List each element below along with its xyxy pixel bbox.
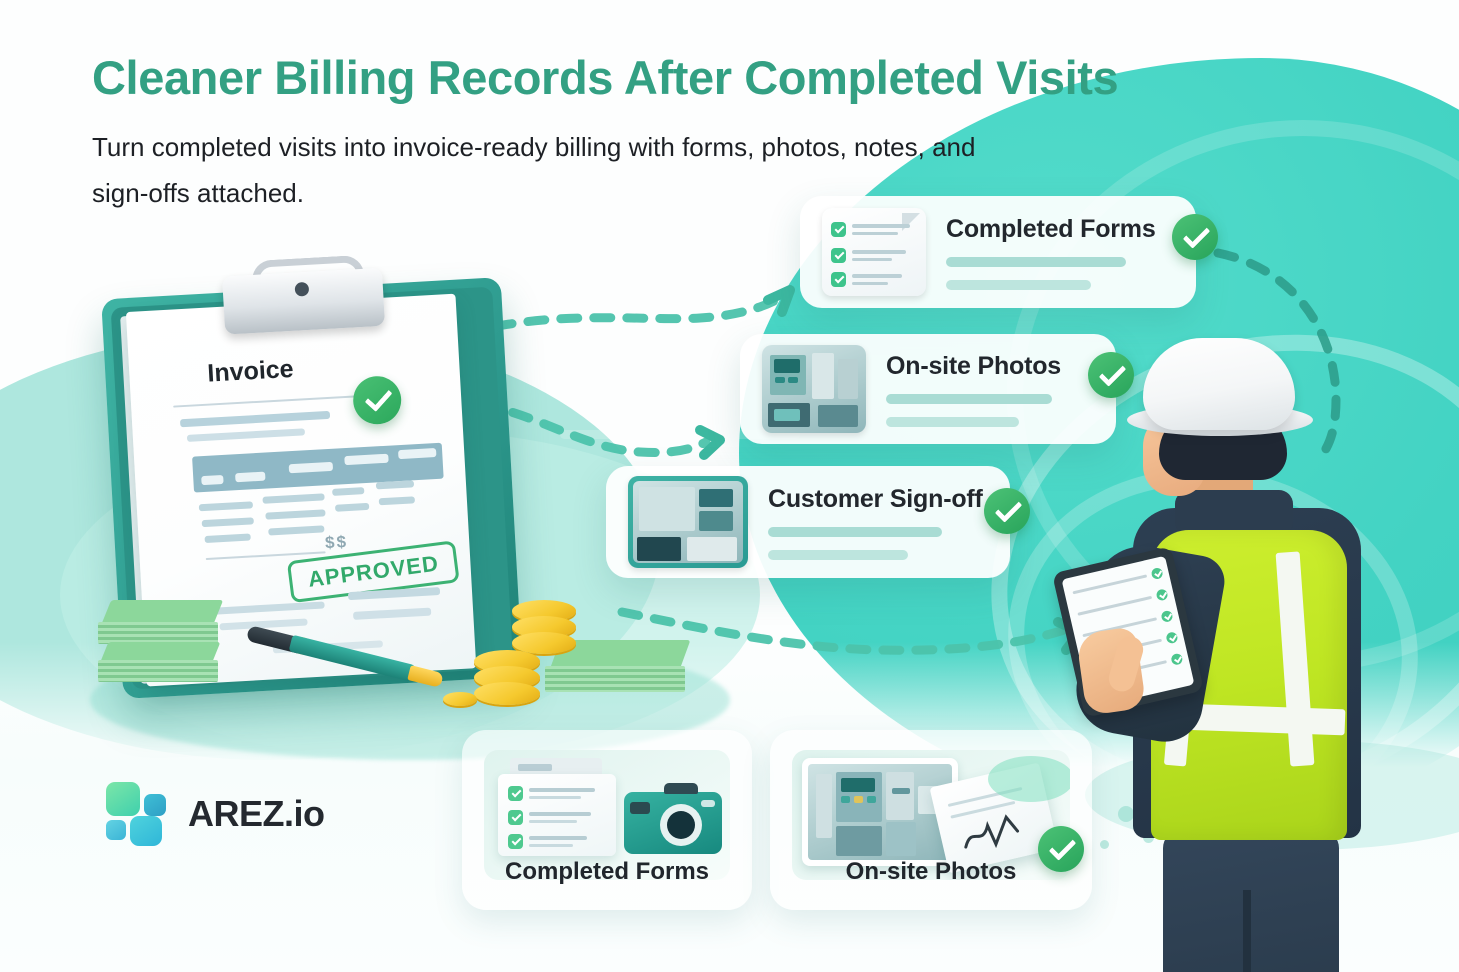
invoice-line [187, 428, 305, 442]
invoice-cell [376, 480, 414, 489]
invoice-rule [173, 394, 373, 407]
equipment-photo-icon [628, 476, 748, 568]
check-icon [1150, 567, 1163, 580]
check-icon [1165, 631, 1178, 644]
arrowhead-icon [768, 290, 790, 312]
worker-legs [1163, 830, 1339, 972]
invoice-amount: $$ [325, 532, 349, 553]
check-icon [1170, 653, 1183, 666]
invoice-cell [332, 487, 364, 496]
placeholder-bar [946, 280, 1091, 290]
brand-logo[interactable]: AREZ.io [106, 782, 325, 846]
card-label: Customer Sign-off [768, 485, 1010, 514]
invoice-line [353, 608, 431, 620]
invoice-title: Invoice [207, 355, 295, 389]
bottom-card-completed-forms[interactable]: Completed Forms [462, 730, 752, 910]
check-circle-icon [984, 488, 1030, 534]
placeholder-bar [886, 417, 1019, 427]
check-icon [1155, 588, 1168, 601]
camera-icon [624, 792, 722, 854]
infographic-canvas: Cleaner Billing Records After Completed … [0, 0, 1459, 972]
vest-stripe [1276, 551, 1315, 766]
invoice-cell [205, 534, 251, 544]
checklist-document-icon [822, 208, 926, 296]
cash-stack-left [98, 600, 228, 686]
card-label: On-site Photos [770, 858, 1092, 886]
invoice-cell [262, 493, 324, 503]
checkbox-icon [831, 222, 846, 237]
invoice-line [215, 601, 325, 614]
placeholder-bar [768, 527, 942, 537]
card-body: Customer Sign-off [768, 485, 1010, 560]
ghost-line [430, 262, 630, 271]
checkbox-icon [508, 834, 523, 849]
checkbox-icon [831, 248, 846, 263]
arez-squares-logo-icon [106, 782, 170, 846]
feature-card-completed-forms[interactable]: Completed Forms [800, 196, 1196, 308]
equipment-photo-icon [762, 345, 866, 433]
coin [474, 682, 540, 705]
invoice-line [180, 411, 330, 427]
invoice-cell [202, 517, 254, 527]
placeholder-bar [946, 257, 1126, 267]
checkbox-icon [831, 272, 846, 287]
worker-leg-split [1243, 890, 1251, 972]
checkbox-icon [508, 786, 523, 801]
placeholder-bar [886, 394, 1052, 404]
clipboard-clip [222, 268, 385, 335]
check-circle-icon [1172, 214, 1218, 260]
invoice-cell [335, 503, 369, 512]
page-title: Cleaner Billing Records After Completed … [92, 50, 1118, 105]
placeholder-bar [768, 550, 908, 560]
field-technician-illustration [1055, 330, 1459, 972]
invoice-cell [379, 496, 415, 505]
coin-single [443, 692, 477, 706]
hard-hat-icon [1143, 338, 1295, 430]
arrowhead-icon [700, 430, 720, 455]
feature-card-customer-signoff[interactable]: Customer Sign-off [606, 466, 1010, 578]
brand-name: AREZ.io [188, 793, 325, 835]
card-label: Completed Forms [946, 215, 1196, 244]
card-label: Completed Forms [462, 858, 752, 886]
invoice-cell [199, 501, 253, 511]
invoice-cell [268, 525, 324, 535]
card-body: Completed Forms [946, 215, 1196, 290]
checkbox-icon [508, 810, 523, 825]
invoice-cell [265, 509, 325, 519]
invoice-approved-check-icon [352, 375, 403, 426]
check-icon [1160, 610, 1173, 623]
bottom-card-onsite-photos[interactable]: On-site Photos [770, 730, 1092, 910]
